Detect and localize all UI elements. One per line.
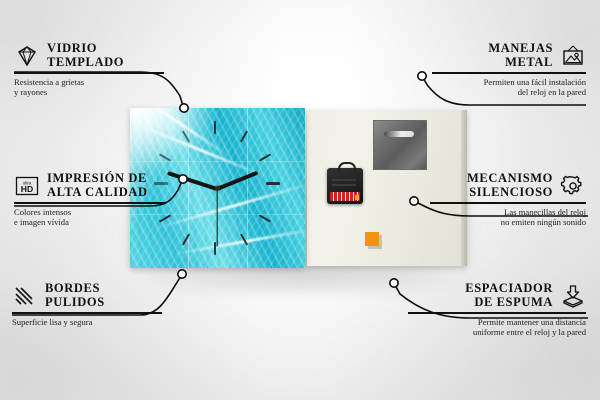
callout-title: MANEJAS METAL (488, 42, 553, 69)
callout-header: BORDES PULIDOS (12, 282, 162, 309)
callout-divider (430, 202, 586, 204)
callout-desc-line1: Permiten una fácil instalación (432, 77, 586, 88)
callout-desc-line1: Colores intensos (14, 207, 166, 218)
clock-second-hand (216, 189, 217, 247)
callout-divider (408, 312, 586, 314)
callout-header: VIDRIO TEMPLADO (14, 42, 164, 69)
callout-desc-line1: Superficie lisa y segura (12, 317, 162, 328)
callout-header: ultra HD IMPRESIÓN DE ALTA CALIDAD (14, 172, 166, 199)
svg-text:HD: HD (21, 184, 33, 194)
panel-band (130, 161, 305, 162)
diamond-icon (14, 44, 40, 68)
gear-icon (560, 174, 586, 198)
callout-mecanismo-silencioso[interactable]: MECANISMO SILENCIOSO Las manecillas del … (430, 172, 586, 228)
callout-desc-line2: e imagen vívida (14, 217, 166, 228)
clock-mechanism (327, 168, 363, 204)
callout-desc-line2: del reloj en la pared (432, 87, 586, 98)
mechanism-yellow-dot (355, 195, 359, 200)
callout-espaciador-espuma[interactable]: ESPACIADOR DE ESPUMA Permite mantener un… (408, 282, 586, 338)
callout-desc-line2: uniforme entre el reloj y la pared (408, 327, 586, 338)
callout-bordes-pulidos[interactable]: BORDES PULIDOS Superficie lisa y segura (12, 282, 162, 327)
callout-title: IMPRESIÓN DE ALTA CALIDAD (47, 172, 148, 199)
callout-title: VIDRIO TEMPLADO (47, 42, 124, 69)
callout-header: ESPACIADOR DE ESPUMA (408, 282, 586, 309)
callout-header: MECANISMO SILENCIOSO (430, 172, 586, 199)
callout-header: MANEJAS METAL (432, 42, 586, 69)
panel-seam (188, 108, 189, 268)
ultra-hd-icon: ultra HD (14, 174, 40, 198)
callout-desc-line1: Las manecillas del reloj (430, 207, 586, 218)
callout-title: ESPACIADOR DE ESPUMA (465, 282, 553, 309)
callout-desc-line1: Resistencia a grietas (14, 77, 164, 88)
callout-title: BORDES PULIDOS (45, 282, 105, 309)
connector-dot-manejas (418, 72, 426, 80)
clock-center-pin (215, 186, 220, 191)
wall-hanger-frame-icon (560, 44, 586, 68)
callout-title: MECANISMO SILENCIOSO (467, 172, 553, 199)
callout-divider (14, 202, 166, 204)
mechanism-loop (338, 162, 356, 173)
clock-tick (266, 182, 280, 185)
callout-manejas-metal[interactable]: MANEJAS METAL Permiten una fácil instala… (432, 42, 586, 98)
callout-divider (432, 72, 586, 74)
product-image (130, 108, 470, 273)
callout-desc-line2: no emiten ningún sonido (430, 217, 586, 228)
hanger-slot (384, 131, 414, 137)
polished-edges-icon (12, 284, 38, 308)
mechanism-line (332, 179, 356, 181)
callout-divider (14, 72, 164, 74)
callout-desc-line1: Permite mantener una distancia (408, 317, 586, 328)
metal-hanger-plate (373, 120, 427, 170)
mechanism-line (332, 184, 356, 186)
foam-spacer-arrow-icon (560, 284, 586, 308)
callout-divider (12, 312, 162, 314)
callout-vidrio-templado[interactable]: VIDRIO TEMPLADO Resistencia a grietas y … (14, 42, 164, 98)
foam-spacer-pad (365, 232, 379, 246)
infographic-canvas: VIDRIO TEMPLADO Resistencia a grietas y … (0, 0, 600, 400)
clock-tick (214, 121, 216, 134)
callout-desc-line2: y rayones (14, 87, 164, 98)
callout-impresion-alta-calidad[interactable]: ultra HD IMPRESIÓN DE ALTA CALIDAD Color… (14, 172, 166, 228)
